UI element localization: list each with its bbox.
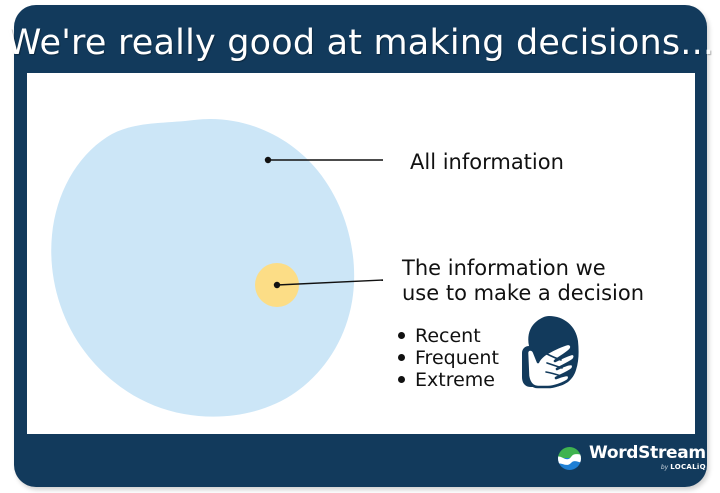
list-item-label: Extreme xyxy=(415,369,495,391)
logo-brand-text: LOCALiQ xyxy=(670,463,706,472)
callout-label-all-information: All information xyxy=(410,150,564,174)
bullet-dot-icon xyxy=(398,354,405,361)
list-item: Extreme xyxy=(398,369,499,390)
list-item-label: Frequent xyxy=(415,347,499,369)
venn-diagram xyxy=(27,73,695,434)
list-item-label: Recent xyxy=(415,325,481,347)
logo-wordmark: WordStream xyxy=(589,444,706,462)
logo-subline: by LOCALiQ xyxy=(661,463,706,472)
callout-label-used-line2: use to make a decision xyxy=(402,281,644,306)
diagram-canvas: All information The information we use t… xyxy=(27,73,695,434)
logo-text-group: WordStream by LOCALiQ xyxy=(589,444,706,472)
bullet-dot-icon xyxy=(398,332,405,339)
wordstream-logo: WordStream by LOCALiQ xyxy=(557,443,706,473)
callout-label-used-line1: The information we xyxy=(402,256,606,280)
all-information-circle xyxy=(51,119,354,417)
slide-root: We're really good at making decisions...… xyxy=(0,0,720,493)
callout-label-used-information: The information we use to make a decisio… xyxy=(402,256,644,306)
logo-by-text: by xyxy=(661,463,668,472)
page-title: We're really good at making decisions... xyxy=(14,14,707,72)
list-item: Recent xyxy=(398,325,499,346)
facepalm-icon xyxy=(513,313,587,391)
wordstream-wave-icon xyxy=(557,446,582,471)
list-item: Frequent xyxy=(398,347,499,368)
bullet-list: Recent Frequent Extreme xyxy=(398,325,499,391)
bullet-dot-icon xyxy=(398,376,405,383)
